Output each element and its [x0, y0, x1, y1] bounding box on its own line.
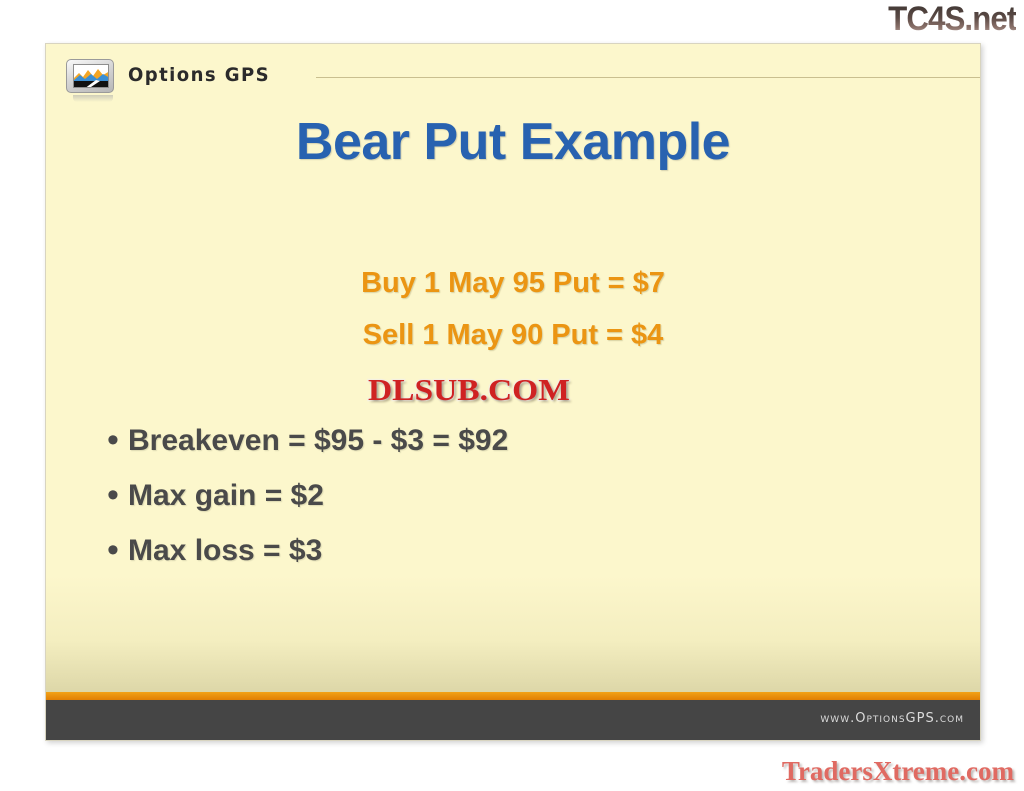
page-root: TC4S.net: [0, 0, 1024, 791]
slide-body: Options GPS Bear Put Example Buy 1 May 9…: [46, 44, 980, 692]
bullet-marker-icon: •: [98, 416, 128, 465]
dlsub-watermark: DLSUB.COM: [368, 372, 570, 408]
bullet-marker-icon: •: [98, 526, 128, 575]
trade-leg-sell: Sell 1 May 90 Put = $4: [46, 309, 980, 361]
slide-title: Bear Put Example: [46, 112, 980, 172]
bullet-list: • Breakeven = $95 - $3 = $92 • Max gain …: [98, 416, 940, 581]
presentation-slide: Options GPS Bear Put Example Buy 1 May 9…: [45, 43, 981, 741]
gps-device-icon: [64, 58, 116, 98]
footer-url: www.OptionsGPS.com: [820, 711, 964, 726]
bullet-text-max-gain: Max gain = $2: [128, 471, 324, 520]
gps-screen-graphic: [74, 65, 109, 88]
list-item: • Max loss = $3: [98, 526, 940, 575]
footer-accent-bar: [46, 692, 980, 700]
slide-header: Options GPS: [64, 56, 980, 102]
tradersxtreme-brand: TradersXtreme.com: [782, 756, 1014, 787]
bullet-text-max-loss: Max loss = $3: [128, 526, 322, 575]
tc4s-brand: TC4S.net: [888, 2, 1016, 36]
bullet-marker-icon: •: [98, 471, 128, 520]
trade-legs: Buy 1 May 95 Put = $7 Sell 1 May 90 Put …: [46, 257, 980, 361]
list-item: • Breakeven = $95 - $3 = $92: [98, 416, 940, 465]
trade-leg-buy: Buy 1 May 95 Put = $7: [46, 257, 980, 309]
header-divider: [316, 77, 981, 78]
slide-footer: www.OptionsGPS.com: [46, 700, 980, 740]
bullet-text-breakeven: Breakeven = $95 - $3 = $92: [128, 416, 508, 465]
list-item: • Max gain = $2: [98, 471, 940, 520]
options-gps-wordmark: Options GPS: [128, 64, 270, 86]
